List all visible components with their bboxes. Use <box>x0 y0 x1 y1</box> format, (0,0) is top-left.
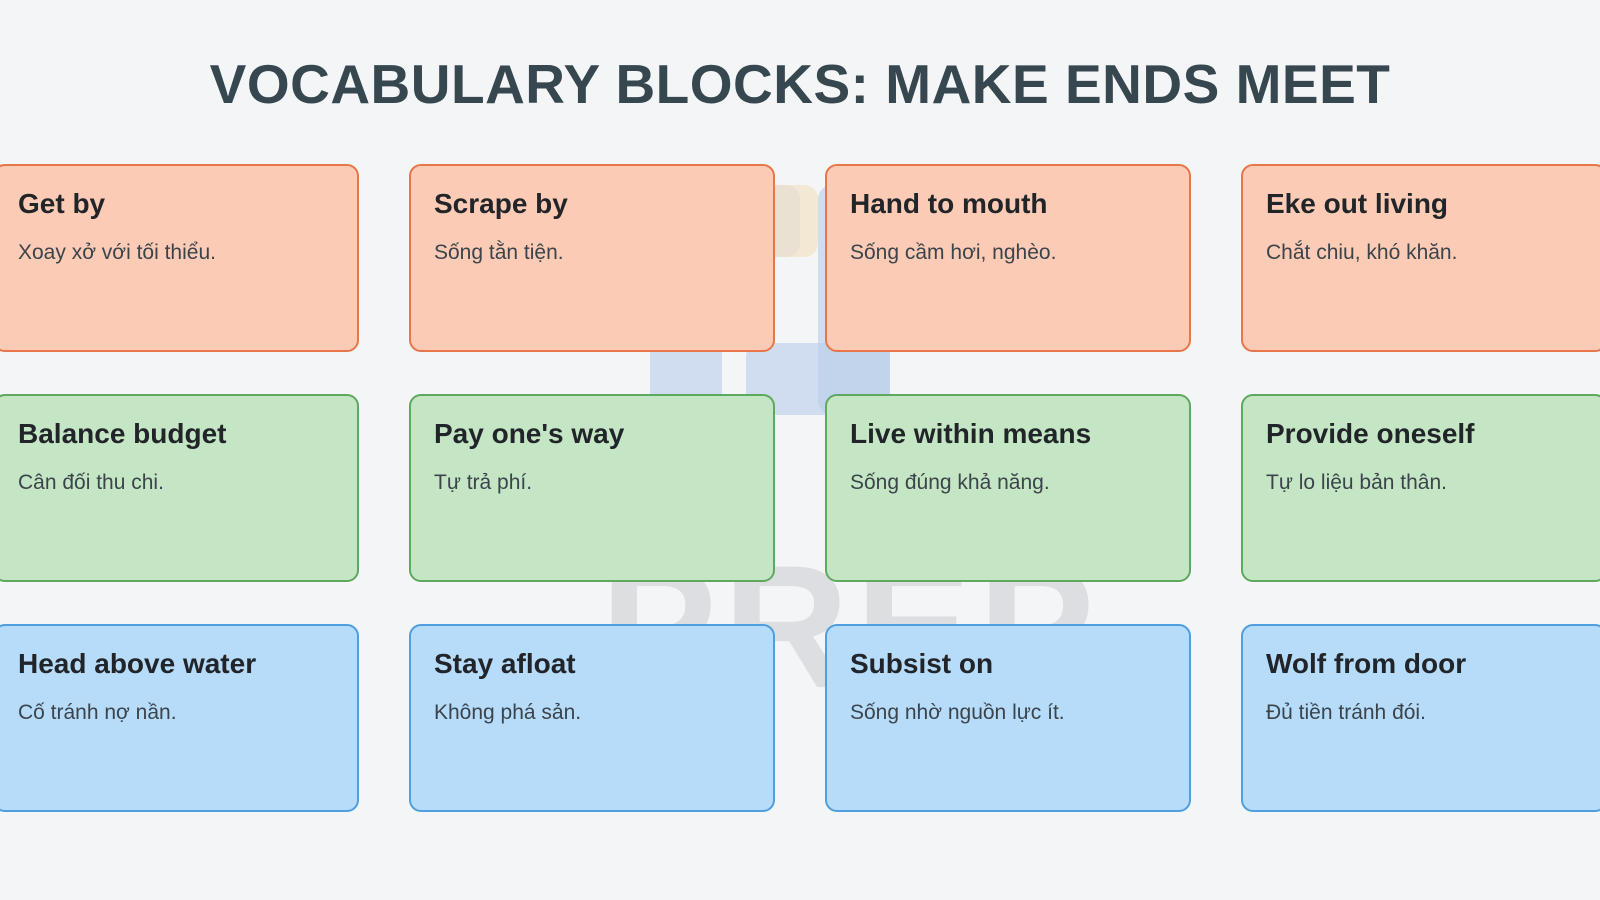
vocabulary-card-grid: Get by Xoay xở với tối thiểu. Scrape by … <box>0 164 1600 812</box>
card-meaning: Tự trả phí. <box>434 470 750 495</box>
vocabulary-card[interactable]: Subsist on Sống nhờ nguồn lực ít. <box>825 624 1191 812</box>
vocabulary-card[interactable]: Balance budget Cân đối thu chi. <box>0 394 359 582</box>
card-term: Scrape by <box>434 188 750 220</box>
card-meaning: Đủ tiền tránh đói. <box>1266 700 1582 725</box>
vocabulary-card[interactable]: Wolf from door Đủ tiền tránh đói. <box>1241 624 1600 812</box>
card-term: Hand to mouth <box>850 188 1166 220</box>
vocabulary-card[interactable]: Stay afloat Không phá sản. <box>409 624 775 812</box>
card-meaning: Sống nhờ nguồn lực ít. <box>850 700 1166 725</box>
card-meaning: Xoay xở với tối thiểu. <box>18 240 334 265</box>
card-term: Stay afloat <box>434 648 750 680</box>
card-term: Balance budget <box>18 418 334 450</box>
card-term: Wolf from door <box>1266 648 1582 680</box>
page-bottom-margin <box>0 850 1600 900</box>
vocabulary-card[interactable]: Hand to mouth Sống cầm hơi, nghèo. <box>825 164 1191 352</box>
vocabulary-card[interactable]: Live within means Sống đúng khả năng. <box>825 394 1191 582</box>
card-term: Eke out living <box>1266 188 1582 220</box>
vocabulary-card[interactable]: Get by Xoay xở với tối thiểu. <box>0 164 359 352</box>
card-meaning: Cố tránh nợ nần. <box>18 700 334 725</box>
vocabulary-card[interactable]: Provide oneself Tự lo liệu bản thân. <box>1241 394 1600 582</box>
vocabulary-card[interactable]: Pay one's way Tự trả phí. <box>409 394 775 582</box>
page-title: VOCABULARY BLOCKS: MAKE ENDS MEET <box>0 52 1600 116</box>
card-term: Head above water <box>18 648 334 680</box>
card-term: Provide oneself <box>1266 418 1582 450</box>
card-term: Pay one's way <box>434 418 750 450</box>
card-meaning: Chắt chiu, khó khăn. <box>1266 240 1582 265</box>
vocabulary-card[interactable]: Eke out living Chắt chiu, khó khăn. <box>1241 164 1600 352</box>
card-meaning: Sống cầm hơi, nghèo. <box>850 240 1166 265</box>
vocabulary-blocks-page: PREP VOCABULARY BLOCKS: MAKE ENDS MEET G… <box>0 0 1600 900</box>
vocabulary-card[interactable]: Head above water Cố tránh nợ nần. <box>0 624 359 812</box>
card-term: Live within means <box>850 418 1166 450</box>
card-term: Get by <box>18 188 334 220</box>
card-meaning: Sống đúng khả năng. <box>850 470 1166 495</box>
card-meaning: Không phá sản. <box>434 700 750 725</box>
card-meaning: Cân đối thu chi. <box>18 470 334 495</box>
card-meaning: Sống tằn tiện. <box>434 240 750 265</box>
card-meaning: Tự lo liệu bản thân. <box>1266 470 1582 495</box>
card-term: Subsist on <box>850 648 1166 680</box>
vocabulary-card[interactable]: Scrape by Sống tằn tiện. <box>409 164 775 352</box>
